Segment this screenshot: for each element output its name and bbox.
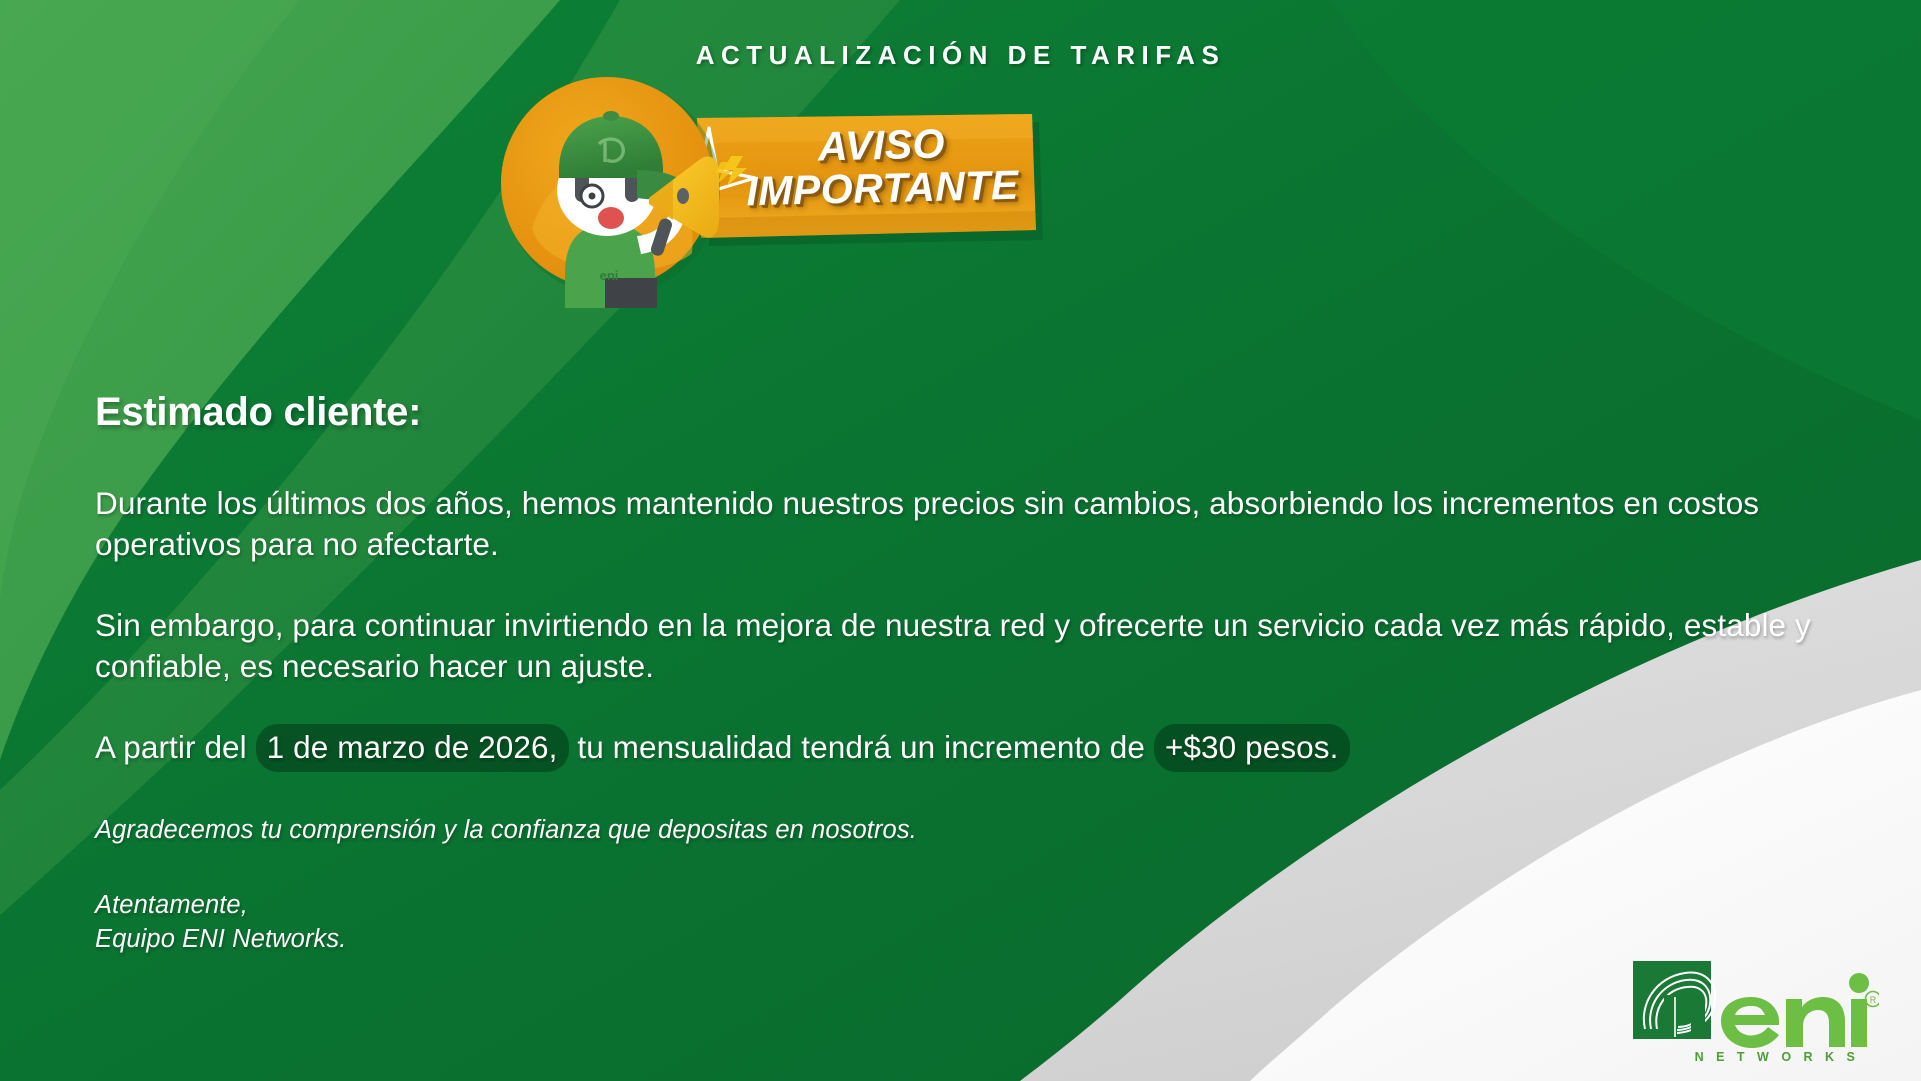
increase-text-pre: A partir del bbox=[95, 729, 256, 765]
mascot-shirt-logo-icon: eni bbox=[600, 268, 619, 283]
paragraph-price-history: Durante los últimos dos años, hemos mant… bbox=[95, 483, 1855, 565]
rate-update-announcement-poster: ACTUALIZACIÓN DE TARIFAS bbox=[0, 0, 1921, 1081]
aviso-importante-badge: eni AVISO IMPORTANTE bbox=[487, 78, 1047, 308]
logo-letter-n bbox=[1786, 997, 1845, 1047]
signoff-block: Atentamente,Equipo ENI Networks. bbox=[95, 889, 1855, 957]
logo-letter-i-dot bbox=[1849, 973, 1869, 993]
logo-letter-e bbox=[1721, 997, 1779, 1048]
effective-date-highlight: 1 de marzo de 2026, bbox=[256, 724, 569, 772]
paragraph-increase-details: A partir del 1 de marzo de 2026, tu mens… bbox=[95, 727, 1855, 768]
signoff-line-2: Equipo ENI Networks. bbox=[95, 925, 346, 953]
paragraph-investment-reason: Sin embargo, para continuar invirtiendo … bbox=[95, 605, 1855, 687]
svg-text:R: R bbox=[1870, 995, 1877, 1005]
eni-networks-logo: R N E T W O R K S bbox=[1631, 953, 1879, 1063]
increase-amount-highlight: +$30 pesos. bbox=[1154, 724, 1350, 772]
registered-mark-icon: R bbox=[1866, 992, 1880, 1007]
increase-text-mid: tu mensualidad tendrá un incremento de bbox=[569, 729, 1154, 765]
signoff-line-1: Atentamente, bbox=[95, 891, 248, 919]
thanks-note: Agradecemos tu comprensión y la confianz… bbox=[95, 816, 1855, 845]
logo-letter-i-stem bbox=[1851, 999, 1867, 1047]
page-title: ACTUALIZACIÓN DE TARIFAS bbox=[0, 40, 1921, 71]
logo-tagline: N E T W O R K S bbox=[1695, 1050, 1860, 1063]
announcement-body: Estimado cliente: Durante los últimos do… bbox=[95, 390, 1855, 957]
greeting-heading: Estimado cliente: bbox=[95, 390, 1855, 435]
